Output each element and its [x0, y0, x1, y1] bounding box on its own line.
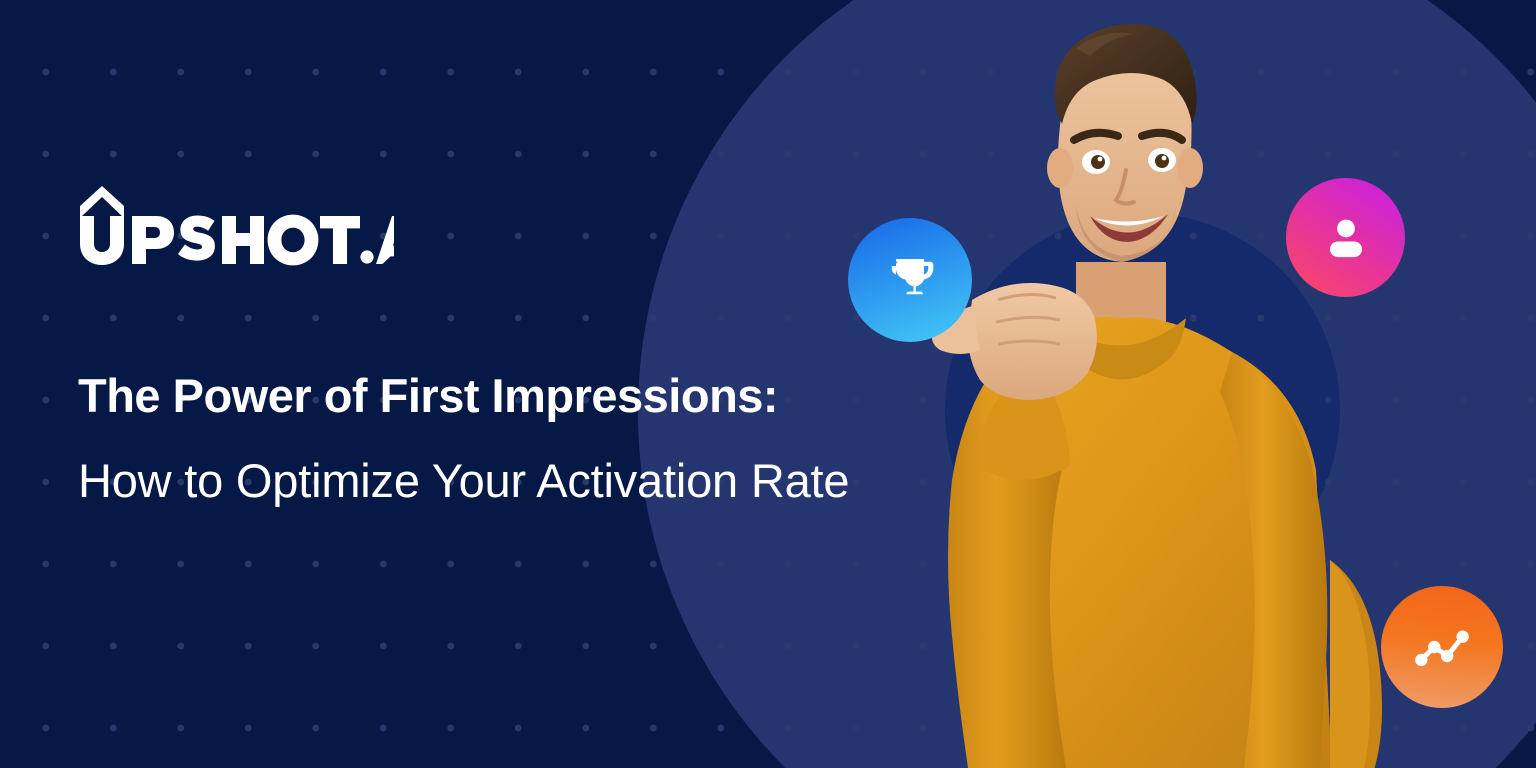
user-avatar-icon [1320, 212, 1372, 264]
upshot-ai-wordmark [76, 186, 394, 272]
headline-bold: The Power of First Impressions: [78, 369, 778, 422]
badge-user[interactable] [1286, 178, 1405, 297]
upshot-chevron-icon [80, 186, 124, 218]
page-title: The Power of First Impressions: How to O… [78, 353, 858, 523]
badge-trophy[interactable] [848, 218, 972, 342]
logo[interactable] [76, 186, 394, 272]
line-chart-icon [1411, 616, 1473, 678]
trophy-icon [882, 252, 938, 308]
banner-content: The Power of First Impressions: How to O… [76, 0, 836, 768]
hero-banner: The Power of First Impressions: How to O… [0, 0, 1536, 768]
sleeve-overlay [1330, 560, 1420, 768]
